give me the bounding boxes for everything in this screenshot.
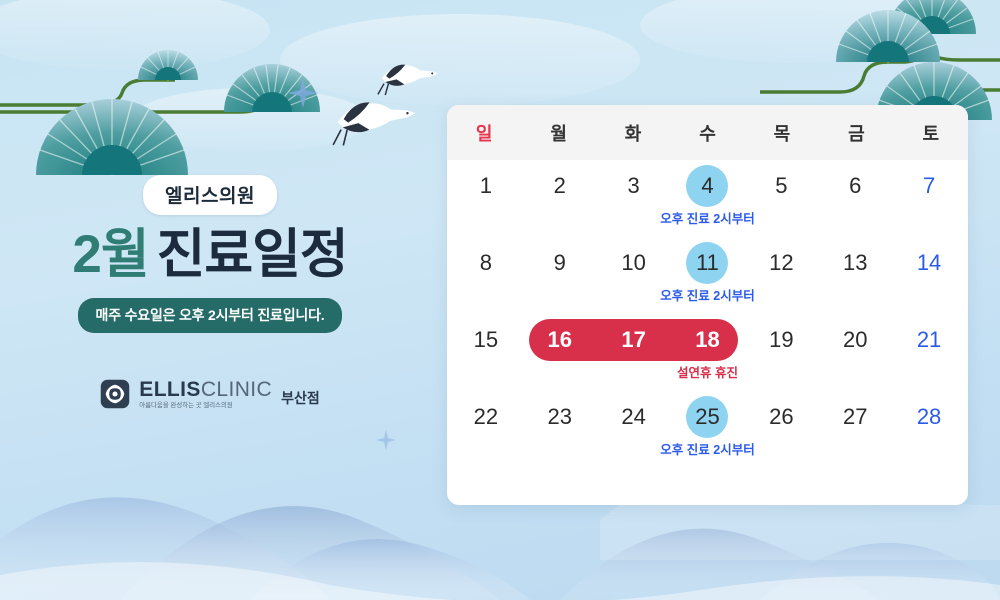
day-number: 12 — [769, 252, 793, 274]
calendar-day-3[interactable]: 3 — [597, 160, 671, 212]
day-number: 3 — [628, 175, 640, 197]
calendar-grid: 1234567오후 진료 2시부터891011121314오후 진료 2시부터1… — [447, 160, 968, 468]
calendar-day-15[interactable]: 15 — [449, 314, 523, 366]
weekday-header-일: 일 — [447, 105, 521, 160]
calendar-week-row: 15161718192021설연휴 휴진 — [449, 314, 966, 391]
day-number: 5 — [775, 175, 787, 197]
calendar-day-26[interactable]: 26 — [744, 391, 818, 443]
page-title: 2월진료일정 — [0, 228, 420, 281]
day-number: 18 — [695, 329, 719, 351]
weekday-header-금: 금 — [819, 105, 893, 160]
title-month: 2월 — [72, 225, 148, 284]
calendar-day-23[interactable]: 23 — [523, 391, 597, 443]
calendar-day-25[interactable]: 25 — [671, 391, 745, 443]
logo-tagline: 아름다움을 완성하는 곳 엘리스의원 — [139, 403, 272, 410]
calendar-weekday-header: 일월화수목금토 — [447, 105, 968, 160]
calendar-day-11[interactable]: 11 — [671, 237, 745, 289]
calendar-day-8[interactable]: 8 — [449, 237, 523, 289]
calendar-day-19[interactable]: 19 — [744, 314, 818, 366]
weekday-header-화: 화 — [596, 105, 670, 160]
calendar-day-21[interactable]: 21 — [892, 314, 966, 366]
clinic-logo: ELLISCLINIC 아름다움을 완성하는 곳 엘리스의원 부산점 — [0, 379, 420, 410]
calendar-day-16[interactable]: 16 — [523, 314, 597, 366]
weekday-header-수: 수 — [670, 105, 744, 160]
day-number: 22 — [474, 406, 498, 428]
calendar-day-2[interactable]: 2 — [523, 160, 597, 212]
calendar-day-24[interactable]: 24 — [597, 391, 671, 443]
calendar-day-5[interactable]: 5 — [744, 160, 818, 212]
day-number: 2 — [554, 175, 566, 197]
calendar-day-10[interactable]: 10 — [597, 237, 671, 289]
subtitle-notice: 매주 수요일은 오후 2시부터 진료입니다. — [78, 298, 343, 333]
calendar-day-12[interactable]: 12 — [744, 237, 818, 289]
calendar-day-4[interactable]: 4 — [671, 160, 745, 212]
calendar-day-7[interactable]: 7 — [892, 160, 966, 212]
day-number: 25 — [686, 396, 728, 438]
day-number: 7 — [923, 175, 935, 197]
day-number: 1 — [480, 175, 492, 197]
calendar-week-row: 22232425262728오후 진료 2시부터 — [449, 391, 966, 468]
calendar-day-28[interactable]: 28 — [892, 391, 966, 443]
calendar-day-9[interactable]: 9 — [523, 237, 597, 289]
day-number: 11 — [686, 242, 728, 284]
day-number: 24 — [621, 406, 645, 428]
day-number: 9 — [554, 252, 566, 274]
calendar-day-20[interactable]: 20 — [818, 314, 892, 366]
day-number: 15 — [474, 329, 498, 351]
day-number: 26 — [769, 406, 793, 428]
branch-label: 부산점 — [281, 388, 320, 408]
day-number: 16 — [548, 329, 572, 351]
calendar-day-17[interactable]: 17 — [597, 314, 671, 366]
calendar-day-22[interactable]: 22 — [449, 391, 523, 443]
day-number: 21 — [917, 329, 941, 351]
calendar-day-13[interactable]: 13 — [818, 237, 892, 289]
day-number: 8 — [480, 252, 492, 274]
weekday-header-월: 월 — [521, 105, 595, 160]
day-number: 28 — [917, 406, 941, 428]
promo-block: 엘리스의원 2월진료일정 매주 수요일은 오후 2시부터 진료입니다. ELLI… — [0, 175, 420, 410]
day-number: 17 — [621, 329, 645, 351]
ellis-flower-icon — [100, 379, 130, 409]
weekday-header-토: 토 — [894, 105, 968, 160]
logo-wordmark: ELLISCLINIC — [139, 379, 272, 400]
calendar-day-27[interactable]: 27 — [818, 391, 892, 443]
calendar-week-row: 891011121314오후 진료 2시부터 — [449, 237, 966, 314]
weekday-header-목: 목 — [745, 105, 819, 160]
day-number: 27 — [843, 406, 867, 428]
day-number: 6 — [849, 175, 861, 197]
day-number: 14 — [917, 252, 941, 274]
calendar-day-14[interactable]: 14 — [892, 237, 966, 289]
clinic-name-badge: 엘리스의원 — [143, 175, 277, 215]
calendar-day-18[interactable]: 18 — [671, 314, 745, 366]
calendar-day-1[interactable]: 1 — [449, 160, 523, 212]
calendar-card: 일월화수목금토 1234567오후 진료 2시부터891011121314오후 … — [447, 105, 968, 505]
logo-name-bold: ELLIS — [139, 378, 201, 401]
day-number: 23 — [548, 406, 572, 428]
calendar-day-6[interactable]: 6 — [818, 160, 892, 212]
logo-name-thin: CLINIC — [201, 378, 272, 401]
day-number: 10 — [621, 252, 645, 274]
day-number: 13 — [843, 252, 867, 274]
title-schedule: 진료일정 — [157, 225, 348, 284]
day-number: 4 — [686, 165, 728, 207]
calendar-week-row: 1234567오후 진료 2시부터 — [449, 160, 966, 237]
day-number: 20 — [843, 329, 867, 351]
day-number: 19 — [769, 329, 793, 351]
